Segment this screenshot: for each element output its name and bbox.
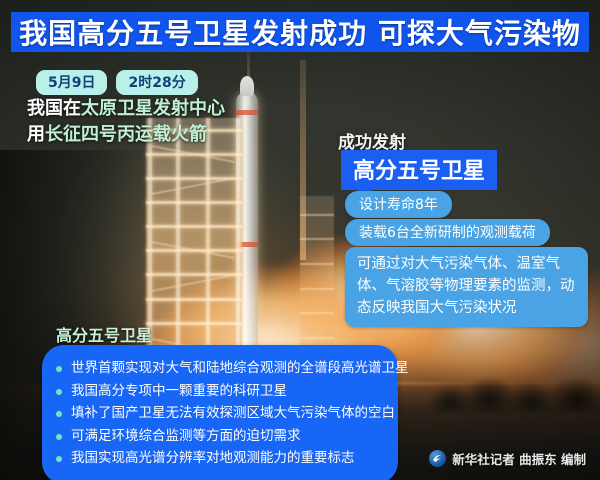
list-item: 可满足环境综合监测等方面的迫切需求 bbox=[56, 427, 382, 447]
lede-line-1: 我国在太原卫星发射中心 bbox=[27, 96, 225, 122]
lede-line-2-highlight: 长征四号丙运载火箭 bbox=[45, 124, 207, 145]
feature-list-panel: 世界首颗实现对大气和陆地综合观测的全谱段高光谱卫星 我国高分专项中一颗重要的科研… bbox=[42, 345, 398, 480]
lede-line-2-prefix: 用 bbox=[27, 124, 45, 145]
page-title: 我国高分五号卫星发射成功 可探大气污染物 bbox=[11, 12, 589, 52]
satellite-name-box: 高分五号卫星 bbox=[341, 150, 497, 190]
xinhua-logo-icon bbox=[429, 450, 446, 467]
lede-text: 我国在太原卫星发射中心 用长征四号丙运载火箭 bbox=[27, 96, 225, 147]
list-item: 世界首颗实现对大气和陆地综合观测的全谱段高光谱卫星 bbox=[56, 359, 382, 379]
feature-list-heading: 高分五号卫星 bbox=[56, 322, 152, 346]
lede-line-2: 用长征四号丙运载火箭 bbox=[27, 122, 225, 148]
lede-line-1-highlight: 太原卫星发射中心 bbox=[81, 98, 225, 119]
spec-pill-payload: 装载6台全新研制的观测载荷 bbox=[345, 219, 550, 246]
time-badge: 2时28分 bbox=[116, 70, 197, 95]
list-item: 我国高分专项中一颗重要的科研卫星 bbox=[56, 382, 382, 402]
infographic-overlay: 我国高分五号卫星发射成功 可探大气污染物 5月9日 2时28分 我国在太原卫星发… bbox=[0, 0, 600, 480]
credit-text: 新华社记者 曲振东 编制 bbox=[452, 449, 586, 468]
spec-pill-design-life: 设计寿命8年 bbox=[345, 191, 452, 218]
list-item: 填补了国产卫星无法有效探测区域大气污染气体的空白 bbox=[56, 404, 382, 424]
date-badge: 5月9日 bbox=[36, 70, 107, 95]
credit-line: 新华社记者 曲振东 编制 bbox=[429, 449, 586, 468]
capability-paragraph: 可通过对大气污染气体、温室气体、气溶胶等物理要素的监测，动态反映我国大气污染状况 bbox=[345, 247, 588, 327]
lede-line-1-prefix: 我国在 bbox=[27, 98, 81, 119]
datetime-badges: 5月9日 2时28分 bbox=[36, 70, 198, 95]
list-item: 我国实现高光谱分辨率对地观测能力的重要标志 bbox=[56, 449, 382, 469]
